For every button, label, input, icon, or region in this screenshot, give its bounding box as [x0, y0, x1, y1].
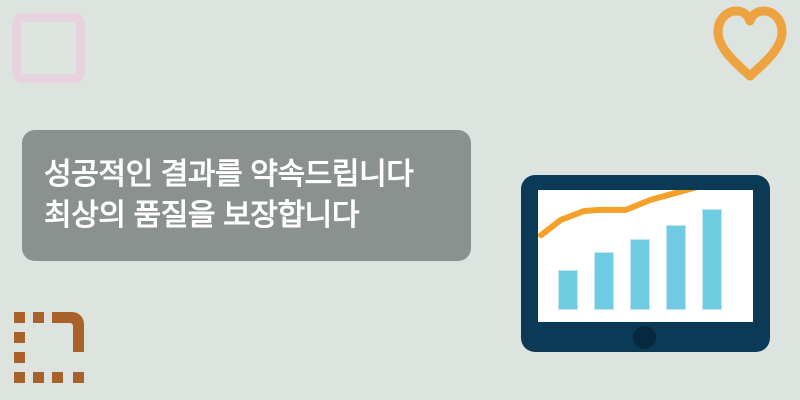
tablet-home-button[interactable] [633, 326, 656, 349]
tablet-screen [538, 190, 753, 322]
heart-outline-icon [708, 5, 792, 81]
poster-canvas: 성공적인 결과를 약속드립니다 최상의 품질을 보장합니다 [0, 0, 800, 400]
bar-chart [538, 190, 753, 322]
headline-line-1: 성공적인 결과를 약속드립니다 [44, 155, 471, 196]
tablet-illustration [521, 175, 770, 352]
headline-line-2: 최상의 품질을 보장합니다 [44, 196, 471, 237]
headline-plate: 성공적인 결과를 약속드립니다 최상의 품질을 보장합니다 [22, 130, 471, 261]
trend-line [538, 190, 753, 322]
dashed-corner-frame-icon [14, 302, 92, 388]
rounded-square-outline-icon [12, 13, 85, 83]
